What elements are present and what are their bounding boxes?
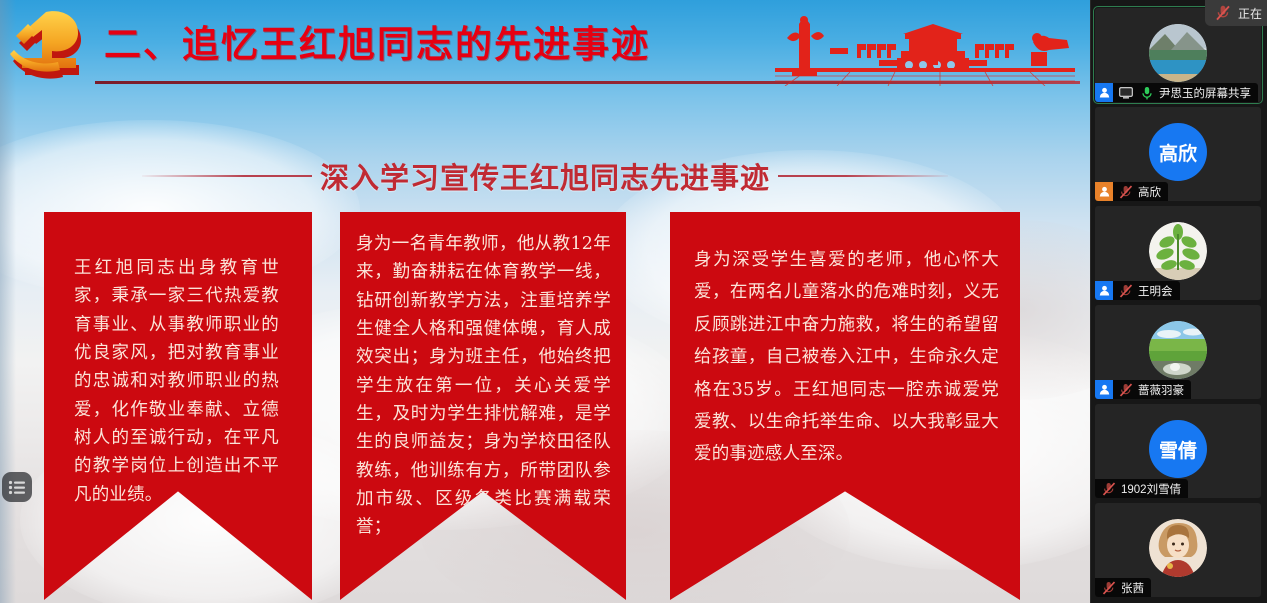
participant-namebar: 尹思玉的屏幕共享 xyxy=(1095,83,1258,102)
portrait-illustration-photo-icon xyxy=(1149,519,1207,577)
participant-tile[interactable]: 雪倩 1902刘雪倩 xyxy=(1095,404,1261,498)
participant-name: 1902刘雪倩 xyxy=(1121,481,1181,497)
person-blue-icon xyxy=(1095,83,1113,102)
person-orange-icon xyxy=(1095,182,1113,201)
screen-share-icon xyxy=(1117,83,1134,102)
avatar xyxy=(1149,24,1207,82)
avatar-initials: 雪倩 xyxy=(1149,420,1207,478)
participant-namebar: 蔷薇羽豪 xyxy=(1095,380,1191,399)
mic-muted-icon xyxy=(1100,479,1117,498)
participant-name: 高欣 xyxy=(1138,184,1161,200)
banner-text: 身为一名青年教师，他从教12年来，勤奋耕耘在体育教学一线，钻研创新教学方法，注重… xyxy=(356,230,611,542)
mic-on-icon xyxy=(1138,83,1155,102)
screen-share-status-label: 正在 xyxy=(1238,5,1262,22)
participant-name: 尹思玉的屏幕共享 xyxy=(1159,85,1251,101)
slide-header: 二、追忆王红旭同志的先进事迹 xyxy=(0,0,1090,96)
green-plant-photo-icon xyxy=(1149,222,1207,280)
mic-muted-icon xyxy=(1117,380,1134,399)
participant-namebar: 张茜 xyxy=(1095,578,1151,597)
mic-muted-icon xyxy=(1100,578,1117,597)
mic-muted-icon xyxy=(1117,281,1134,300)
participant-name: 蔷薇羽豪 xyxy=(1138,382,1184,398)
avatar xyxy=(1149,321,1207,379)
mic-muted-icon xyxy=(1215,5,1231,21)
person-blue-icon xyxy=(1095,281,1113,300)
participant-tile[interactable]: 张茜 xyxy=(1095,503,1261,597)
avatar xyxy=(1149,519,1207,577)
landscape-lake-photo-icon xyxy=(1149,24,1207,82)
subtitle-rule-left xyxy=(142,175,312,177)
field-landscape-photo-icon xyxy=(1149,321,1207,379)
page-title: 二、追忆王红旭同志的先进事迹 xyxy=(104,14,650,68)
content-banner: 身为深受学生喜爱的老师，他心怀大爱，在两名儿童落水的危难时刻，义无反顾跳进江中奋… xyxy=(670,212,1020,600)
slide-subtitle: 深入学习宣传王红旭同志先进事迹 xyxy=(312,155,778,197)
person-blue-icon xyxy=(1095,380,1113,399)
tiananmen-square-illustration-icon xyxy=(775,8,1075,86)
avatar xyxy=(1149,222,1207,280)
content-banner: 身为一名青年教师，他从教12年来，勤奋耕耘在体育教学一线，钻研创新教学方法，注重… xyxy=(340,212,626,600)
participant-tile[interactable]: 高欣 高欣 xyxy=(1095,107,1261,201)
participant-namebar: 高欣 xyxy=(1095,182,1168,201)
slide-subtitle-row: 深入学习宣传王红旭同志先进事迹 xyxy=(0,155,1090,197)
banner-text: 王红旭同志出身教育世家，秉承一家三代热爱教育事业、从事教师职业的优良家风，把对教… xyxy=(74,254,279,509)
participant-name: 张茜 xyxy=(1121,580,1144,596)
mic-muted-icon xyxy=(1117,182,1134,201)
shared-slide-area: 二、追忆王红旭同志的先进事迹 xyxy=(0,0,1090,603)
content-banner: 王红旭同志出身教育世家，秉承一家三代热爱教育事业、从事教师职业的优良家风，把对教… xyxy=(44,212,312,600)
avatar-initials: 高欣 xyxy=(1149,123,1207,181)
screen-share-status-bar[interactable]: 正在 xyxy=(1205,0,1267,26)
participant-namebar: 王明会 xyxy=(1095,281,1180,300)
slideshow-menu-button[interactable] xyxy=(2,472,32,502)
cpc-party-emblem-icon xyxy=(6,6,98,86)
participant-namebar: 1902刘雪倩 xyxy=(1095,479,1188,498)
participant-tile[interactable]: 王明会 xyxy=(1095,206,1261,300)
participant-name: 王明会 xyxy=(1138,283,1173,299)
participant-video-panel: 正在 xyxy=(1090,0,1267,603)
screen-root: 二、追忆王红旭同志的先进事迹 xyxy=(0,0,1267,603)
participant-tile[interactable]: 蔷薇羽豪 xyxy=(1095,305,1261,399)
subtitle-rule-right xyxy=(778,175,948,177)
banner-text: 身为深受学生喜爱的老师，他心怀大爱，在两名儿童落水的危难时刻，义无反顾跳进江中奋… xyxy=(694,244,999,471)
slideshow-menu-icon xyxy=(8,480,27,495)
